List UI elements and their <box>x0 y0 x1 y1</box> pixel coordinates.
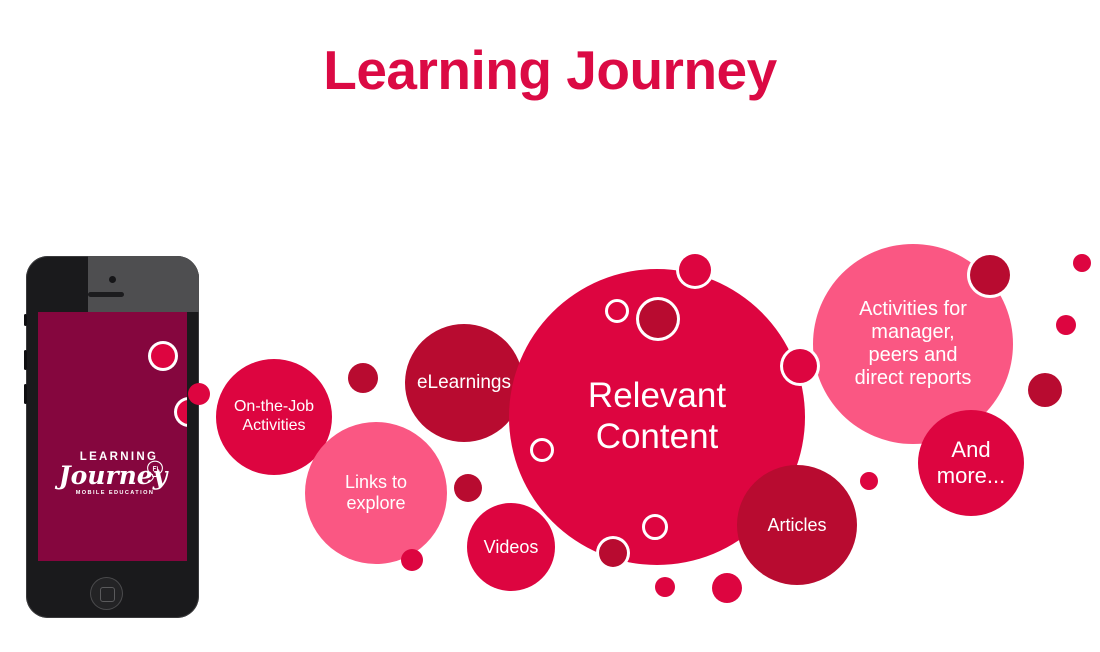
accent-far-right-mid <box>1056 315 1076 335</box>
accent-bottom-med <box>712 573 742 603</box>
bubble-label: On-the-JobActivities <box>234 398 314 435</box>
bubble-articles[interactable]: Articles <box>737 465 857 585</box>
phone-top-sheen <box>88 256 199 312</box>
bubble-videos[interactable]: Videos <box>467 503 555 591</box>
accent-far-right-low <box>1028 373 1062 407</box>
accent-ring-left-of-content <box>530 438 554 462</box>
accent-right-of-content <box>783 349 817 383</box>
bubble-label: RelevantContent <box>588 376 726 457</box>
bubble-elearnings[interactable]: eLearnings <box>405 324 523 442</box>
phone-speaker-icon <box>88 292 124 297</box>
accent-mid-left <box>454 474 482 502</box>
phone-mute-switch[interactable] <box>24 384 27 404</box>
bubble-label: eLearnings <box>417 372 511 394</box>
phone-home-square-icon <box>100 587 115 602</box>
accent-bottom-small <box>655 577 675 597</box>
phone-volume-down-button[interactable] <box>24 350 27 370</box>
phone-home-button[interactable] <box>90 577 123 610</box>
smartphone-mockup: LEARNING Journey MOBILE EDUCATION <box>26 256 199 618</box>
bubble-links-to-explore[interactable]: Links toexplore <box>305 422 447 564</box>
logo-line-mobile-education: MOBILE EDUCATION <box>56 490 174 496</box>
accent-phone-edge <box>188 383 210 405</box>
lightbulb-balloon-icon <box>145 460 165 484</box>
accent-top-of-content <box>679 254 711 286</box>
accent-far-right-top <box>1073 254 1091 272</box>
accent-phone-screen-ring <box>151 344 175 368</box>
bubble-label: Activities formanager,peers anddirect re… <box>855 298 972 391</box>
phone-volume-up-button[interactable] <box>24 314 27 326</box>
page-title: Learning Journey <box>0 38 1100 102</box>
accent-dark-bottom-left <box>599 539 627 567</box>
phone-camera-icon <box>109 276 116 283</box>
accent-left-small <box>348 363 378 393</box>
learning-journey-infographic: Learning Journey LEARNING Journey MOBILE… <box>0 0 1100 652</box>
accent-ring-top-left <box>605 299 629 323</box>
bubble-label: Videos <box>484 537 539 558</box>
app-logo: LEARNING Journey MOBILE EDUCATION <box>52 452 174 496</box>
accent-pink-top-right <box>970 255 1010 295</box>
accent-dark-in-content <box>639 300 677 338</box>
bubble-label: Articles <box>767 515 826 536</box>
accent-ring-bottom <box>642 514 668 540</box>
bubble-label: Andmore... <box>937 437 1005 488</box>
accent-phone-screen-ring <box>177 400 187 424</box>
bubble-label: Links toexplore <box>345 472 407 514</box>
accent-articles-left <box>860 472 878 490</box>
bubble-and-more[interactable]: Andmore... <box>918 410 1024 516</box>
accent-links-bottom <box>401 549 423 571</box>
